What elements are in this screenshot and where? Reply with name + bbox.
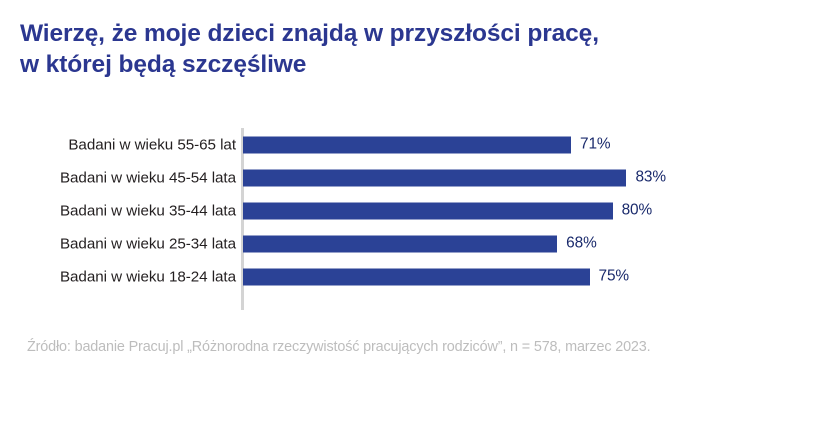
- chart-figure: Wierzę, że moje dzieci znajdą w przyszło…: [0, 0, 816, 441]
- bar-category-label: Badani w wieku 25-34 lata: [60, 235, 236, 252]
- bar-category-label: Badani w wieku 35-44 lata: [60, 202, 236, 219]
- bar-track: 80%: [243, 202, 652, 219]
- bar-category-label: Badani w wieku 45-54 lata: [60, 169, 236, 186]
- chart-title: Wierzę, że moje dzieci znajdą w przyszło…: [20, 18, 780, 80]
- bar-category-label: Badani w wieku 18-24 lata: [60, 268, 236, 285]
- bar-category-label: Badani w wieku 55-65 lat: [68, 136, 236, 153]
- bar-row: Badani w wieku 55-65 lat 71%: [0, 128, 816, 161]
- bar-value-label: 71%: [580, 136, 611, 154]
- bar-track: 68%: [243, 235, 597, 252]
- bar-row: Badani w wieku 18-24 lata 75%: [0, 260, 816, 293]
- bar-track: 75%: [243, 268, 629, 285]
- bar-value-label: 68%: [566, 235, 597, 253]
- bar-row: Badani w wieku 45-54 lata 83%: [0, 161, 816, 194]
- bar-track: 71%: [243, 136, 611, 153]
- bar-fill: [243, 202, 613, 219]
- bar-fill: [243, 235, 557, 252]
- bar-fill: [243, 268, 590, 285]
- bar-value-label: 80%: [622, 202, 653, 220]
- bar-fill: [243, 169, 626, 186]
- bar-row: Badani w wieku 25-34 lata 68%: [0, 227, 816, 260]
- bar-fill: [243, 136, 571, 153]
- bar-track: 83%: [243, 169, 666, 186]
- source-note: Źródło: badanie Pracuj.pl „Różnorodna rz…: [27, 339, 651, 355]
- bar-row: Badani w wieku 35-44 lata 80%: [0, 194, 816, 227]
- bar-value-label: 83%: [635, 169, 666, 187]
- bar-value-label: 75%: [599, 268, 630, 286]
- plot-area: Badani w wieku 55-65 lat 71% Badani w wi…: [0, 128, 816, 312]
